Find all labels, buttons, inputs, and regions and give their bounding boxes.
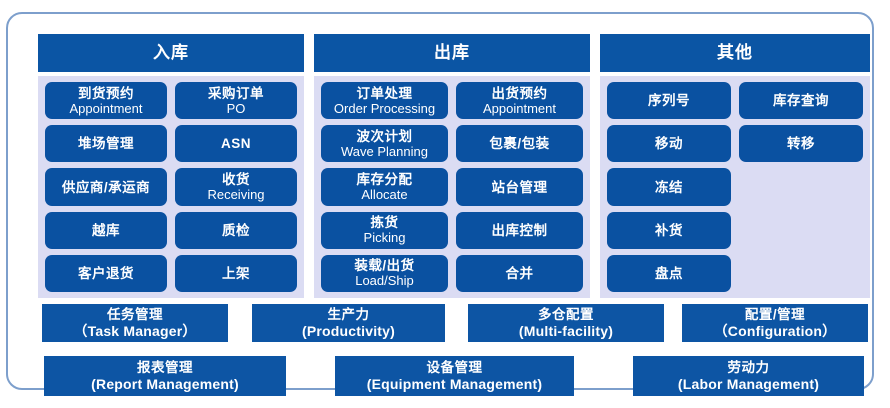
wide-button-task-manager[interactable]: 任务管理 （Task Manager） [42, 304, 228, 342]
subcolumn-other-right: 库存查询 转移 [739, 82, 863, 292]
category-column-outbound: 出库 订单处理 Order Processing 波次计划 Wave Plann… [314, 34, 590, 298]
module-cell[interactable]: 堆场管理 [45, 125, 167, 162]
subcolumn-inbound-right: 采购订单 PO ASN 收货 Receiving 质检 上架 [175, 82, 297, 292]
category-body-outbound: 订单处理 Order Processing 波次计划 Wave Planning… [314, 76, 590, 298]
module-cell[interactable]: 补货 [607, 212, 731, 249]
module-cell[interactable]: ASN [175, 125, 297, 162]
module-label-zh: 堆场管理 [78, 136, 134, 151]
subcolumn-outbound-left: 订单处理 Order Processing 波次计划 Wave Planning… [321, 82, 448, 292]
wide-button-label-zh: 生产力 [328, 306, 370, 323]
module-label-zh: 转移 [787, 136, 815, 151]
wide-button-configuration[interactable]: 配置/管理 （Configuration） [682, 304, 868, 342]
wide-button-label-zh: 设备管理 [427, 359, 483, 376]
module-label-en: Allocate [361, 187, 407, 202]
module-label-zh: 波次计划 [357, 129, 413, 144]
wide-button-label-zh: 任务管理 [107, 306, 163, 323]
module-cell-placeholder [739, 212, 863, 249]
module-cell[interactable]: 客户退货 [45, 255, 167, 292]
module-label-zh: 到货预约 [78, 86, 134, 101]
category-header-other: 其他 [600, 34, 870, 72]
category-header-outbound: 出库 [314, 34, 590, 72]
module-label-zh: 站台管理 [492, 180, 548, 195]
wide-button-label-zh: 多仓配置 [538, 306, 594, 323]
category-body-other: 序列号 移动 冻结 补货 盘点 [600, 76, 870, 298]
module-cell[interactable]: 站台管理 [456, 168, 583, 205]
module-cell[interactable]: 合并 [456, 255, 583, 292]
module-label-zh: 上架 [222, 266, 250, 281]
module-label-en: Order Processing [334, 101, 435, 116]
module-cell[interactable]: 供应商/承运商 [45, 168, 167, 205]
module-label-zh: 供应商/承运商 [62, 180, 150, 195]
subcolumn-inbound-left: 到货预约 Appointment 堆场管理 供应商/承运商 越库 客户退货 [45, 82, 167, 292]
module-label-zh: 盘点 [655, 266, 683, 281]
wide-button-productivity[interactable]: 生产力 (Productivity) [252, 304, 445, 342]
module-row-management: 任务管理 （Task Manager） 生产力 (Productivity) 多… [38, 304, 870, 342]
category-column-other: 其他 序列号 移动 冻结 补货 盘点 [600, 34, 870, 298]
wide-button-equipment-management[interactable]: 设备管理 (Equipment Management) [335, 356, 574, 396]
wide-button-label-zh: 报表管理 [137, 359, 193, 376]
module-cell[interactable]: 到货预约 Appointment [45, 82, 167, 119]
module-cell[interactable]: 波次计划 Wave Planning [321, 125, 448, 162]
module-label-zh: 库存分配 [357, 172, 413, 187]
module-label-zh: 拣货 [371, 215, 399, 230]
module-cell[interactable]: 冻结 [607, 168, 731, 205]
module-label-zh: 出库控制 [492, 223, 548, 238]
module-cell-placeholder [739, 255, 863, 292]
wide-button-label-en: (Equipment Management) [367, 376, 543, 393]
subcolumn-outbound-right: 出货预约 Appointment 包裹/包装 站台管理 出库控制 合并 [456, 82, 583, 292]
module-label-en: Wave Planning [341, 144, 428, 159]
module-label-zh: 越库 [92, 223, 120, 238]
wide-button-label-en: (Productivity) [302, 323, 395, 340]
module-label-zh: 序列号 [648, 93, 690, 108]
module-label-zh: 质检 [222, 223, 250, 238]
module-label-zh: 冻结 [655, 180, 683, 195]
wide-button-labor-management[interactable]: 劳动力 (Labor Management) [633, 356, 864, 396]
wide-button-label-en: (Multi-facility) [519, 323, 613, 340]
module-cell[interactable]: 盘点 [607, 255, 731, 292]
wide-button-label-en: (Report Management) [91, 376, 239, 393]
wide-button-label-zh: 劳动力 [728, 359, 770, 376]
module-label-zh: 采购订单 [208, 86, 264, 101]
module-cell[interactable]: 质检 [175, 212, 297, 249]
module-cell[interactable]: 包裹/包装 [456, 125, 583, 162]
module-cell[interactable]: 越库 [45, 212, 167, 249]
module-label-zh: 订单处理 [357, 86, 413, 101]
module-cell[interactable]: 库存分配 Allocate [321, 168, 448, 205]
category-body-inbound: 到货预约 Appointment 堆场管理 供应商/承运商 越库 客户退货 [38, 76, 304, 298]
module-label-zh: 收货 [222, 172, 250, 187]
module-cell[interactable]: 拣货 Picking [321, 212, 448, 249]
module-label-en: Receiving [207, 187, 264, 202]
module-label-zh: ASN [221, 136, 251, 151]
subcolumn-other-left: 序列号 移动 冻结 补货 盘点 [607, 82, 731, 292]
module-label-zh: 装载/出货 [354, 258, 414, 273]
module-cell[interactable]: 上架 [175, 255, 297, 292]
module-label-en: PO [227, 101, 246, 116]
module-label-en: Picking [364, 230, 406, 245]
module-cell[interactable]: 采购订单 PO [175, 82, 297, 119]
module-label-en: Appointment [483, 101, 556, 116]
wide-button-label-en: （Configuration） [714, 323, 837, 340]
module-label-zh: 补货 [655, 223, 683, 238]
module-row-support: 报表管理 (Report Management) 设备管理 (Equipment… [38, 356, 870, 396]
diagram-frame: 入库 到货预约 Appointment 堆场管理 供应商/承运商 越库 [6, 12, 874, 390]
wide-button-report-management[interactable]: 报表管理 (Report Management) [44, 356, 286, 396]
module-label-zh: 库存查询 [773, 93, 829, 108]
module-label-en: Load/Ship [355, 273, 414, 288]
module-cell[interactable]: 收货 Receiving [175, 168, 297, 205]
module-cell[interactable]: 库存查询 [739, 82, 863, 119]
module-cell[interactable]: 出库控制 [456, 212, 583, 249]
module-cell[interactable]: 移动 [607, 125, 731, 162]
wide-button-label-en: （Task Manager） [73, 323, 196, 340]
wide-button-multi-facility[interactable]: 多仓配置 (Multi-facility) [468, 304, 664, 342]
module-cell[interactable]: 订单处理 Order Processing [321, 82, 448, 119]
module-label-zh: 客户退货 [78, 266, 134, 281]
module-label-zh: 包裹/包装 [489, 136, 549, 151]
wide-button-label-en: (Labor Management) [678, 376, 819, 393]
category-column-inbound: 入库 到货预约 Appointment 堆场管理 供应商/承运商 越库 [38, 34, 304, 298]
module-cell-placeholder [739, 168, 863, 205]
category-columns: 入库 到货预约 Appointment 堆场管理 供应商/承运商 越库 [38, 34, 870, 298]
module-cell[interactable]: 出货预约 Appointment [456, 82, 583, 119]
category-header-inbound: 入库 [38, 34, 304, 72]
module-label-zh: 合并 [506, 266, 534, 281]
module-label-en: Appointment [70, 101, 143, 116]
wide-button-label-zh: 配置/管理 [745, 306, 805, 323]
module-label-zh: 移动 [655, 136, 683, 151]
module-label-zh: 出货预约 [492, 86, 548, 101]
module-cell[interactable]: 序列号 [607, 82, 731, 119]
module-cell[interactable]: 装载/出货 Load/Ship [321, 255, 448, 292]
module-cell[interactable]: 转移 [739, 125, 863, 162]
